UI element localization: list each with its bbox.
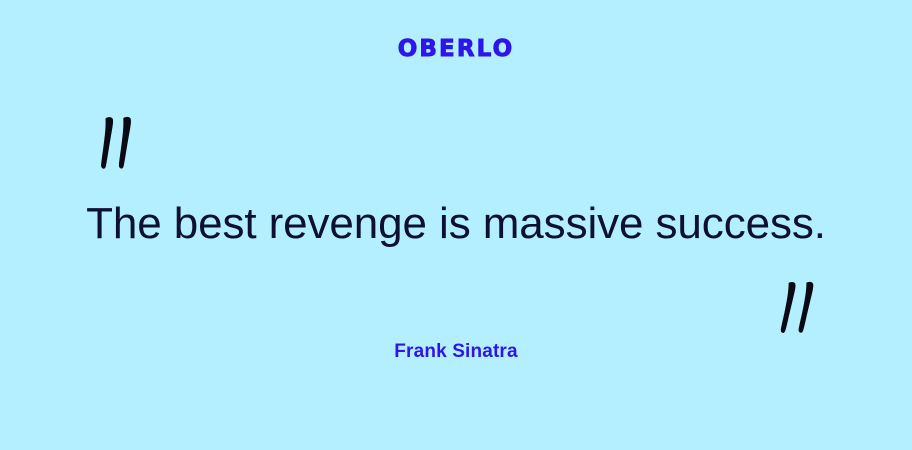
oberlo-logo: OBERLO [0,38,912,61]
quote-text: The best revenge is massive success. [0,199,912,248]
opening-quotation-mark-icon [97,116,141,170]
quote-card: OBERLO The best revenge is massive succe… [0,0,912,450]
closing-quotation-mark-icon [776,281,820,333]
quote-author: Frank Sinatra [0,341,912,364]
